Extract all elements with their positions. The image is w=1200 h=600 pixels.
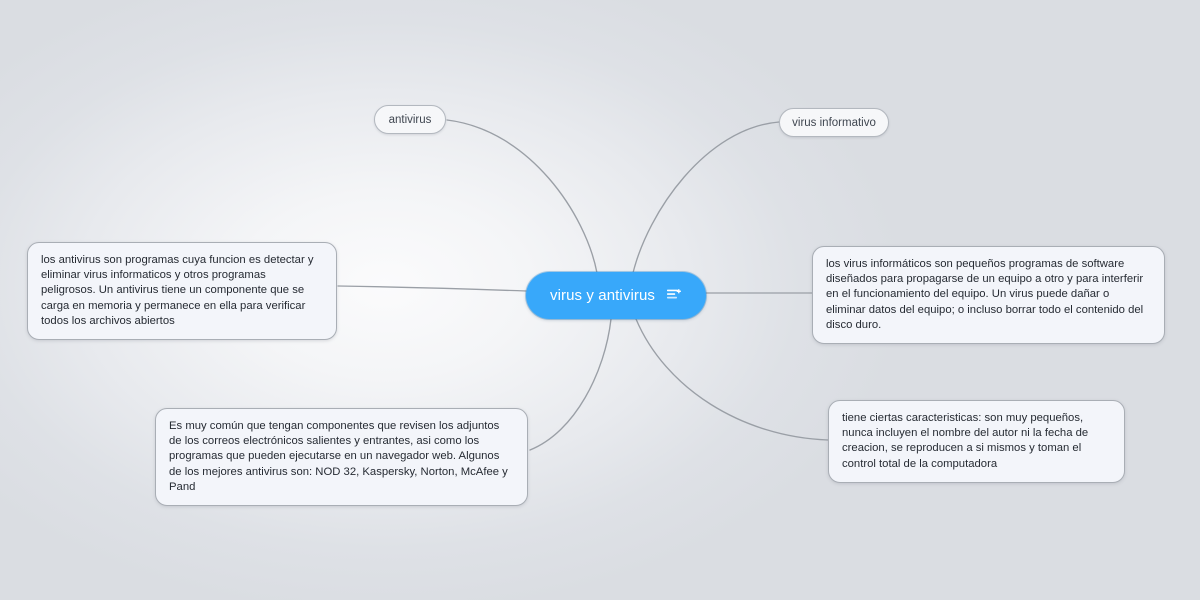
mindmap-canvas[interactable]: virus y antivirus antivirus virus inform… [0, 0, 1200, 600]
branch-node-antivirus[interactable]: antivirus [374, 105, 446, 134]
note-antivirus-componentes[interactable]: Es muy común que tengan componentes que … [155, 408, 528, 506]
notes-add-icon[interactable] [667, 289, 682, 302]
note-virus-definicion[interactable]: los virus informáticos son pequeños prog… [812, 246, 1165, 344]
note-virus-caracteristicas-text: tiene ciertas caracteristicas: son muy p… [842, 411, 1111, 472]
note-virus-caracteristicas[interactable]: tiene ciertas caracteristicas: son muy p… [828, 400, 1125, 483]
branch-node-virus-informativo[interactable]: virus informativo [779, 108, 889, 137]
note-antivirus-definicion-text: los antivirus son programas cuya funcion… [41, 253, 323, 329]
note-antivirus-componentes-text: Es muy común que tengan componentes que … [169, 419, 514, 495]
link-central-to-virus-caracteristicas [636, 319, 828, 440]
central-node-label: virus y antivirus [550, 287, 655, 304]
link-central-to-antivirus-definicion [338, 286, 526, 291]
branch-node-antivirus-label: antivirus [389, 114, 432, 126]
note-virus-definicion-text: los virus informáticos son pequeños prog… [826, 257, 1151, 333]
link-central-to-antivirus [447, 120, 597, 273]
branch-node-virus-informativo-label: virus informativo [792, 117, 876, 129]
central-node[interactable]: virus y antivirus [526, 272, 706, 319]
link-central-to-virus-informativo [633, 122, 779, 273]
link-central-to-antivirus-componentes [530, 319, 611, 450]
note-antivirus-definicion[interactable]: los antivirus son programas cuya funcion… [27, 242, 337, 340]
